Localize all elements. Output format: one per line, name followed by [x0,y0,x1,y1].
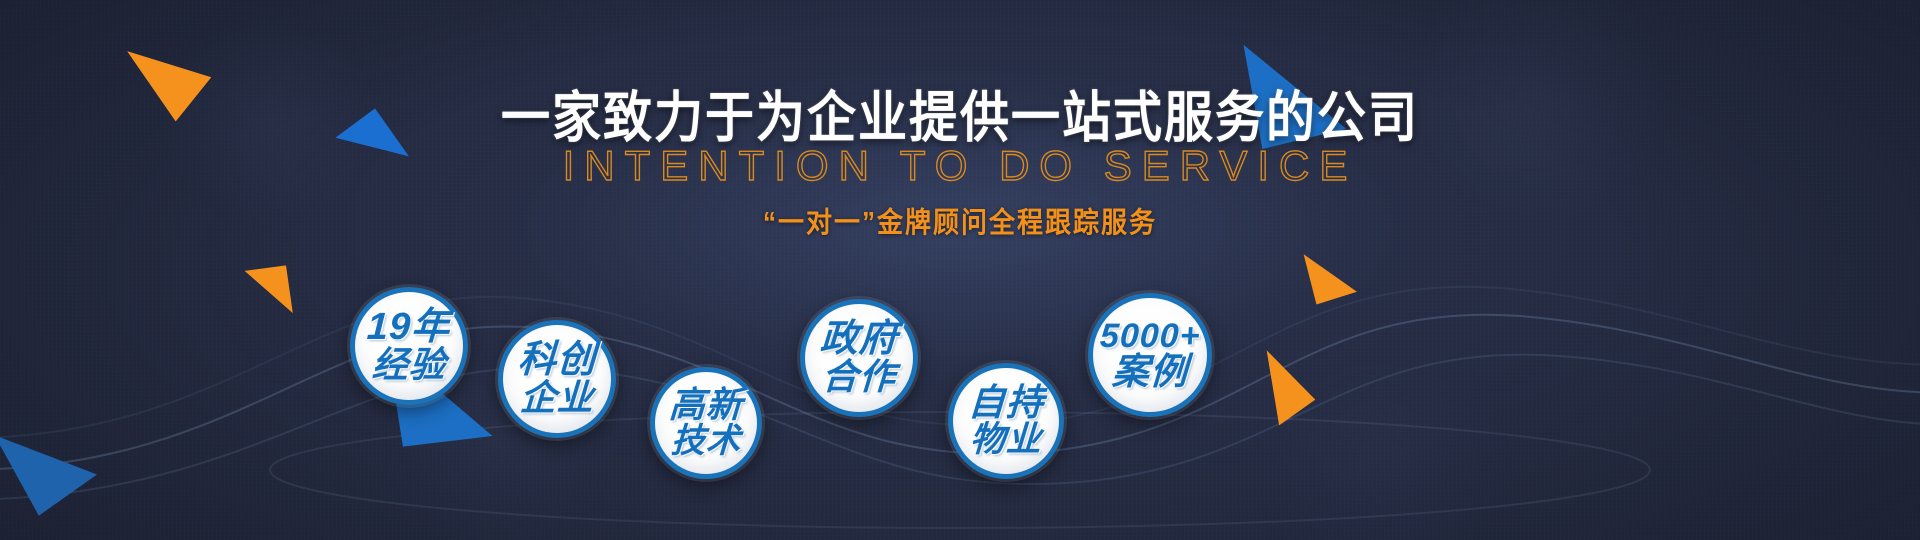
badge-label-secondary: 案例 [1111,353,1189,391]
badge-label-primary: 自持 [967,384,1045,422]
badge-self-owned-property[interactable]: 自持物业 [948,363,1064,479]
banner-subtitle: INTENTION TO DO SERVICE [0,142,1920,190]
badge-label-secondary: 企业 [519,380,595,417]
hero-banner: 一家致力于为企业提供一站式服务的公司 INTENTION TO DO SERVI… [0,0,1920,540]
badge-label-primary: 19年 [366,308,451,347]
badge-label-secondary: 合作 [821,359,897,396]
badge-years-experience[interactable]: 19年经验 [350,287,468,405]
badge-high-tech[interactable]: 高新技术 [650,367,762,479]
badge-label-secondary: 技术 [670,424,742,459]
badge-gov-cooperation[interactable]: 政府合作 [800,299,918,417]
badge-label-secondary: 物业 [969,422,1043,458]
badge-cases-count[interactable]: 5000+案例 [1088,293,1212,417]
badge-label-secondary: 经验 [371,347,447,384]
badge-tech-startup[interactable]: 科创企业 [498,320,616,438]
banner-tagline: “一对一”金牌顾问全程跟踪服务 [0,200,1920,241]
badge-label-primary: 高新 [668,387,744,424]
badge-label-primary: 政府 [819,320,899,359]
badge-label-primary: 5000+ [1099,319,1201,354]
badge-label-primary: 科创 [517,341,597,380]
